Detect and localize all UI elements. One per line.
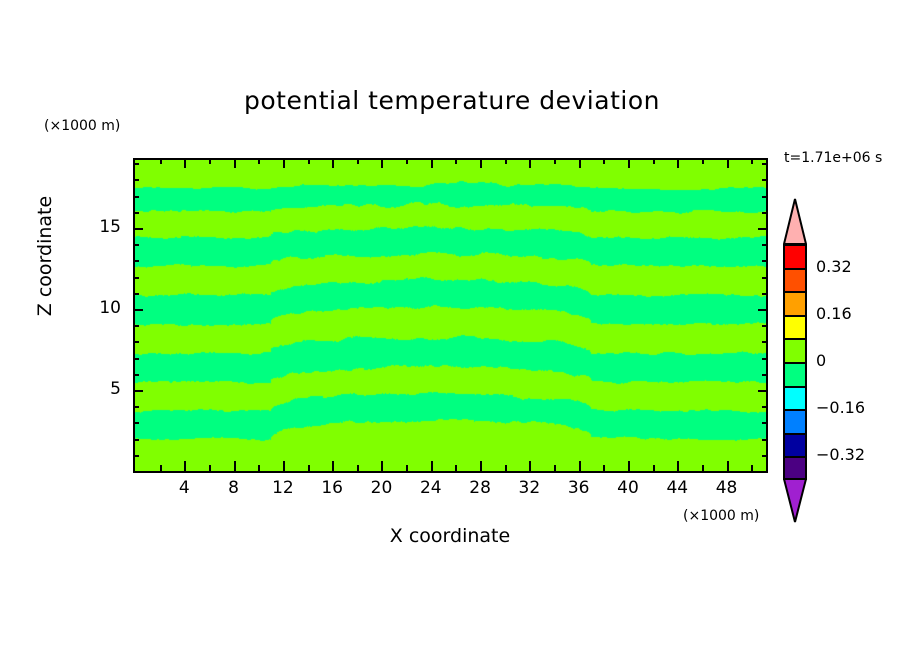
y-tick-right bbox=[762, 439, 768, 441]
x-tick-top bbox=[431, 158, 433, 168]
y-axis-unit-label: (×1000 m) bbox=[44, 118, 120, 134]
colorbar-band bbox=[785, 411, 805, 435]
x-tick bbox=[258, 465, 260, 471]
x-tick bbox=[160, 465, 162, 471]
y-tick-right bbox=[762, 293, 768, 295]
colorbar-bottom-cap bbox=[783, 478, 807, 522]
x-axis-title: X coordinate bbox=[250, 525, 650, 547]
contour-field bbox=[135, 160, 766, 471]
x-tick bbox=[431, 461, 433, 471]
colorbar-tick-label: −0.32 bbox=[816, 445, 865, 464]
y-tick bbox=[133, 309, 143, 311]
x-tick bbox=[653, 465, 655, 471]
y-tick-right bbox=[762, 406, 768, 408]
x-tick bbox=[628, 461, 630, 471]
x-tick-top bbox=[702, 158, 704, 164]
y-tick-right bbox=[762, 163, 768, 165]
x-tick bbox=[529, 461, 531, 471]
y-tick-right bbox=[762, 244, 768, 246]
x-tick-label: 36 bbox=[559, 478, 599, 498]
x-tick-top bbox=[628, 158, 630, 168]
colorbar-band bbox=[785, 293, 805, 317]
x-tick-top bbox=[579, 158, 581, 168]
x-tick-label: 48 bbox=[707, 478, 747, 498]
x-tick-top bbox=[381, 158, 383, 168]
y-tick-right bbox=[762, 455, 768, 457]
x-tick-top bbox=[677, 158, 679, 168]
colorbar-top-cap bbox=[783, 198, 807, 244]
x-tick-label: 32 bbox=[509, 478, 549, 498]
y-tick bbox=[133, 422, 139, 424]
contour-plot-area bbox=[133, 158, 768, 473]
x-tick bbox=[283, 461, 285, 471]
x-tick-top bbox=[554, 158, 556, 164]
y-axis-title: Z coordinate bbox=[34, 176, 56, 336]
x-tick bbox=[332, 461, 334, 471]
x-tick-top bbox=[505, 158, 507, 164]
y-tick bbox=[133, 277, 139, 279]
y-tick bbox=[133, 325, 139, 327]
x-tick-label: 4 bbox=[164, 478, 204, 498]
y-tick-label: 15 bbox=[81, 217, 121, 237]
x-tick bbox=[308, 465, 310, 471]
y-tick bbox=[133, 455, 139, 457]
x-tick bbox=[702, 465, 704, 471]
x-tick bbox=[455, 465, 457, 471]
colorbar-tick-label: −0.16 bbox=[816, 398, 865, 417]
colorbar-tick-label: 0.16 bbox=[816, 304, 852, 323]
y-tick bbox=[133, 212, 139, 214]
x-tick-top bbox=[653, 158, 655, 164]
colorbar-band bbox=[785, 246, 805, 270]
x-tick bbox=[480, 461, 482, 471]
x-tick bbox=[406, 465, 408, 471]
y-tick-right bbox=[762, 325, 768, 327]
x-tick-label: 40 bbox=[608, 478, 648, 498]
x-tick-top bbox=[258, 158, 260, 164]
y-tick bbox=[133, 163, 139, 165]
y-tick bbox=[133, 358, 139, 360]
y-tick bbox=[133, 374, 139, 376]
y-tick bbox=[133, 228, 143, 230]
x-tick-label: 8 bbox=[214, 478, 254, 498]
y-tick-right bbox=[758, 390, 768, 392]
x-tick bbox=[727, 461, 729, 471]
y-tick bbox=[133, 406, 139, 408]
y-tick bbox=[133, 179, 139, 181]
x-tick-label: 20 bbox=[361, 478, 401, 498]
y-tick-right bbox=[762, 277, 768, 279]
y-tick-right bbox=[762, 179, 768, 181]
y-tick-label: 5 bbox=[81, 379, 121, 399]
y-tick-right bbox=[762, 341, 768, 343]
x-tick bbox=[677, 461, 679, 471]
colorbar-band bbox=[785, 270, 805, 294]
y-tick-label: 10 bbox=[81, 298, 121, 318]
colorbar-band bbox=[785, 388, 805, 412]
x-tick-label: 28 bbox=[460, 478, 500, 498]
x-tick-label: 16 bbox=[312, 478, 352, 498]
y-tick-right bbox=[762, 374, 768, 376]
y-tick-right bbox=[762, 358, 768, 360]
colorbar bbox=[783, 244, 807, 480]
timestamp-annotation: t=1.71e+06 s bbox=[784, 150, 882, 166]
y-tick-right bbox=[762, 212, 768, 214]
x-tick bbox=[603, 465, 605, 471]
x-tick-top bbox=[308, 158, 310, 164]
y-tick bbox=[133, 341, 139, 343]
y-tick-right bbox=[758, 309, 768, 311]
x-axis-unit-label: (×1000 m) bbox=[683, 508, 759, 524]
colorbar-band bbox=[785, 435, 805, 459]
x-tick-top bbox=[455, 158, 457, 164]
x-tick bbox=[381, 461, 383, 471]
y-tick bbox=[133, 260, 139, 262]
x-tick-top bbox=[160, 158, 162, 164]
x-tick bbox=[184, 461, 186, 471]
x-tick bbox=[554, 465, 556, 471]
x-tick-top bbox=[357, 158, 359, 164]
x-tick-label: 24 bbox=[411, 478, 451, 498]
x-tick bbox=[357, 465, 359, 471]
y-tick-right bbox=[762, 260, 768, 262]
x-tick-top bbox=[234, 158, 236, 168]
y-tick-right bbox=[762, 196, 768, 198]
y-tick bbox=[133, 439, 139, 441]
colorbar-tick-label: 0 bbox=[816, 351, 826, 370]
x-tick-top bbox=[480, 158, 482, 168]
x-tick-top bbox=[727, 158, 729, 168]
x-tick-label: 12 bbox=[263, 478, 303, 498]
colorbar-band bbox=[785, 317, 805, 341]
y-tick-right bbox=[758, 228, 768, 230]
x-tick-label: 44 bbox=[657, 478, 697, 498]
x-tick-top bbox=[184, 158, 186, 168]
y-tick bbox=[133, 293, 139, 295]
y-tick bbox=[133, 196, 139, 198]
x-tick-top bbox=[406, 158, 408, 164]
x-tick-top bbox=[529, 158, 531, 168]
x-tick-top bbox=[283, 158, 285, 168]
y-tick bbox=[133, 244, 139, 246]
page-title: potential temperature deviation bbox=[0, 86, 904, 115]
x-tick-top bbox=[332, 158, 334, 168]
x-tick bbox=[505, 465, 507, 471]
colorbar-tick-label: 0.32 bbox=[816, 257, 852, 276]
x-tick bbox=[751, 465, 753, 471]
x-tick bbox=[209, 465, 211, 471]
x-tick-top bbox=[751, 158, 753, 164]
colorbar-band bbox=[785, 340, 805, 364]
x-tick bbox=[579, 461, 581, 471]
x-tick bbox=[234, 461, 236, 471]
y-tick-right bbox=[762, 422, 768, 424]
x-tick-top bbox=[603, 158, 605, 164]
x-tick-top bbox=[209, 158, 211, 164]
y-tick bbox=[133, 390, 143, 392]
colorbar-band bbox=[785, 364, 805, 388]
